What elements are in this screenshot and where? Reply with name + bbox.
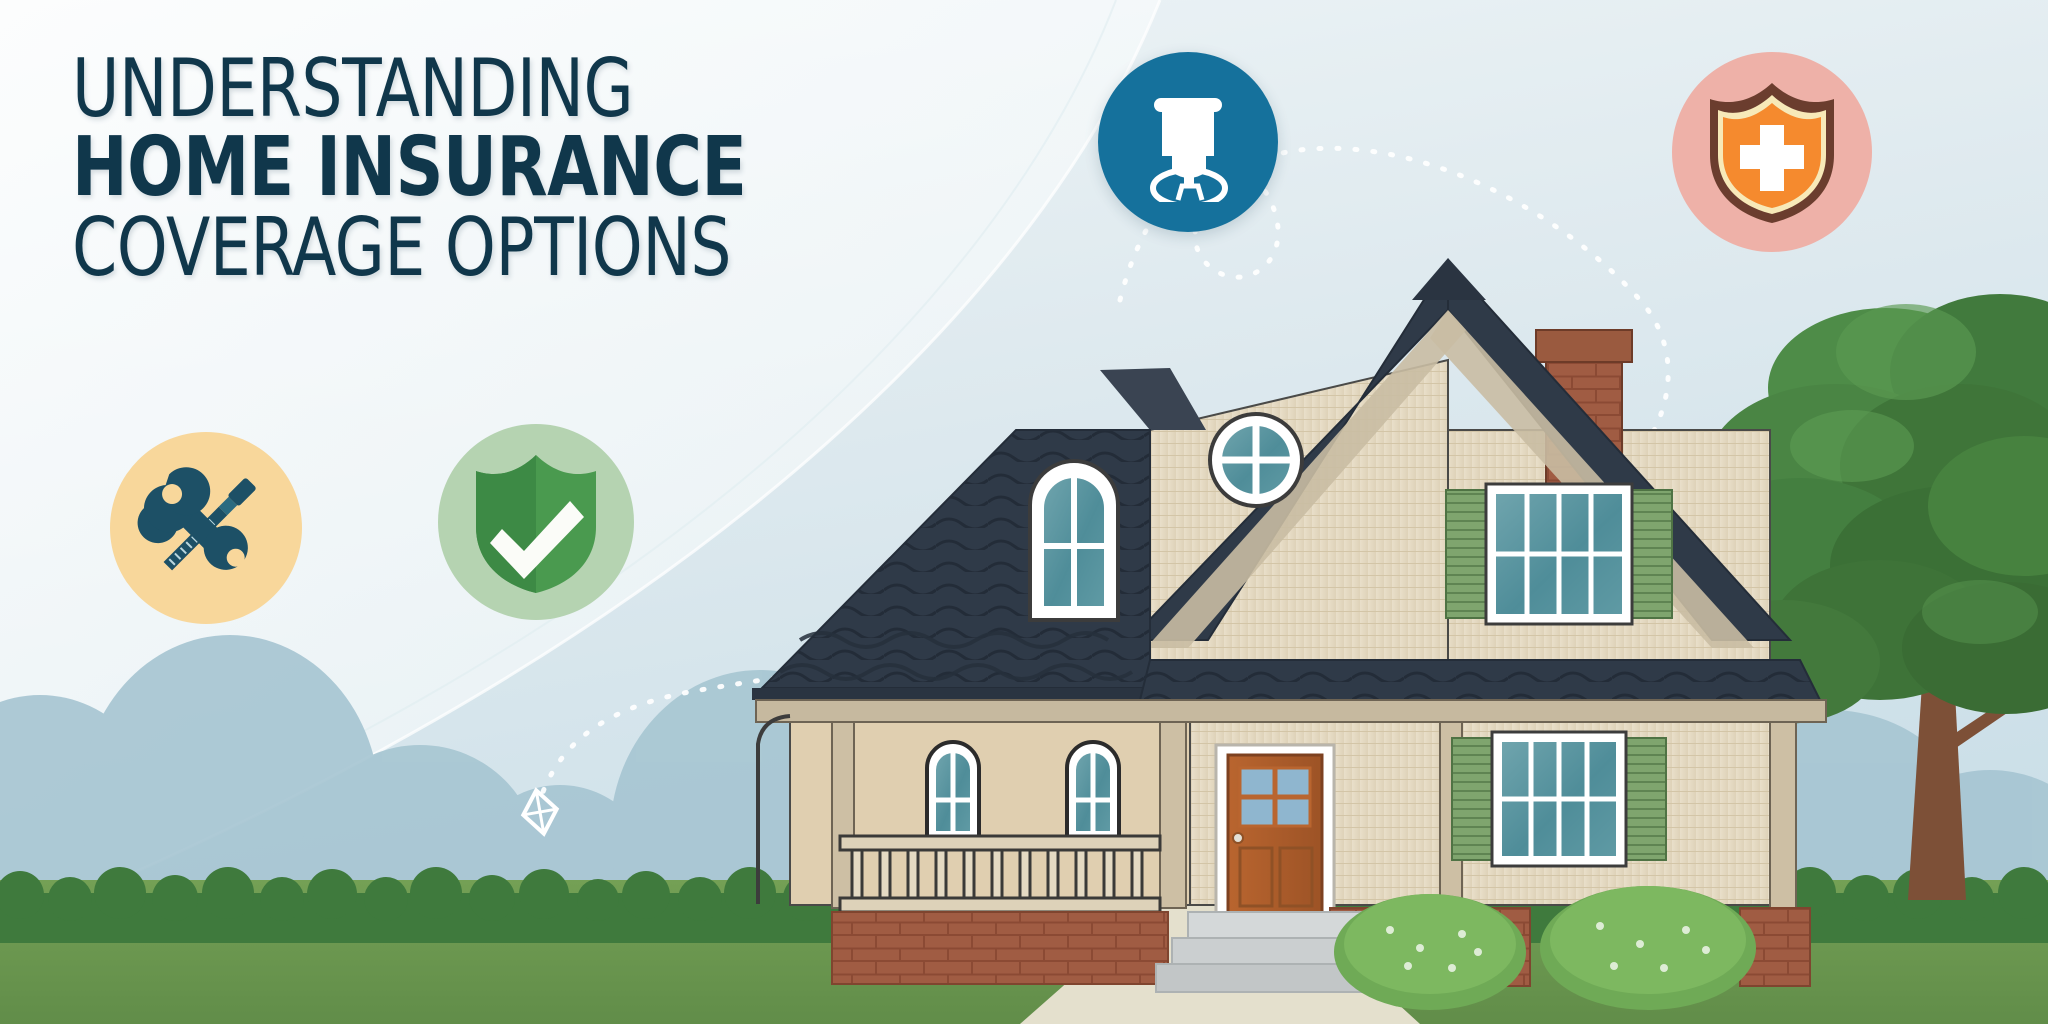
tools-icon[interactable]: [110, 432, 302, 624]
headline: UNDERSTANDING HOME INSURANCE COVERAGE OP…: [72, 52, 792, 285]
porch-arched-window: [927, 742, 979, 840]
front-door: [1216, 745, 1334, 925]
round-attic-window: [1210, 414, 1302, 506]
headline-line-3: COVERAGE OPTIONS: [72, 211, 720, 285]
brick-foundation: [832, 912, 1168, 984]
roof-ridge: [1412, 258, 1486, 300]
bush: [1540, 886, 1756, 1010]
door-knob: [1233, 833, 1243, 843]
lower-double-window: [1452, 732, 1666, 866]
shield-with-checkmark-glyph: [466, 447, 606, 597]
front-gable-roof: [1100, 368, 1206, 430]
porch-arched-window: [1067, 742, 1119, 840]
headline-line-1: UNDERSTANDING: [72, 52, 720, 126]
bush: [1334, 894, 1526, 1010]
arched-upper-window: [1030, 461, 1118, 620]
protection-shield-icon[interactable]: [438, 424, 634, 620]
downspout: [758, 716, 790, 904]
shield-with-cross-glyph: [1702, 77, 1842, 227]
porch-beam: [756, 700, 1826, 722]
upper-double-window: [1446, 484, 1672, 624]
banner-canvas: UNDERSTANDING HOME INSURANCE COVERAGE OP…: [0, 0, 2048, 1024]
porch-railing: [840, 836, 1160, 912]
porch-post: [1160, 722, 1186, 908]
sprinkler-faucet-glyph: [1128, 82, 1248, 202]
porch-post: [1770, 722, 1796, 908]
liability-shield-icon[interactable]: [1672, 52, 1872, 252]
headline-line-2: HOME INSURANCE: [72, 130, 720, 205]
entry-porch-roof-shingle: [1140, 660, 1820, 700]
wrench-and-screwdriver-glyph: [136, 458, 276, 598]
water-damage-icon[interactable]: [1098, 52, 1278, 232]
porch-roof-lower-edge: [752, 688, 1150, 700]
